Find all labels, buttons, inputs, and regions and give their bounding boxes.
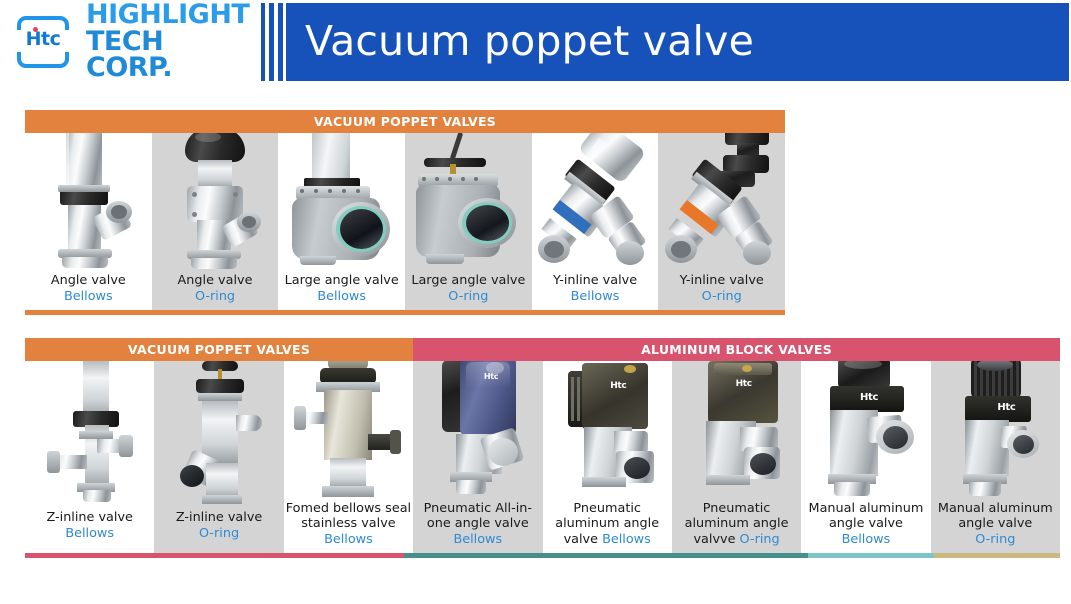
valve-caption-seal: Bellows <box>317 289 366 304</box>
valve-caption: Large angle valveBellows <box>278 269 405 310</box>
valve-photo-y-inline-oring <box>663 133 781 269</box>
valve-caption: Large angle valveO-ring <box>405 269 532 310</box>
valve-cell-z-inline-bellows[interactable]: Z-inline valveBellows <box>25 361 154 553</box>
valve-caption-title: Y-inline valve <box>553 273 637 288</box>
valve-caption-seal: O-ring <box>448 289 488 304</box>
valve-photo-z-inline-bellows <box>43 361 137 506</box>
valve-caption-title: Manual aluminum angle valve <box>938 501 1053 532</box>
valve-cell-y-inline-oring[interactable]: Y-inline valveO-ring <box>658 133 785 310</box>
valve-caption: Angle valveO-ring <box>152 269 279 310</box>
logo-htc-text: Htc <box>17 28 69 50</box>
valve-photo-manual-alum-bellows: Htc <box>812 361 920 497</box>
valve-photo-manual-alum-oring: Htc <box>943 361 1047 497</box>
valve-caption: Z-inline valveO-ring <box>154 506 283 547</box>
valve-photo-pneu-alum-bellows: Htc <box>554 361 660 497</box>
valve-photo-y-inline-bellows <box>536 133 654 269</box>
valve-caption: Pneumatic All-in-one angle valveBellows <box>413 497 542 554</box>
valve-caption: Angle valveBellows <box>25 269 152 310</box>
valve-cell-z-inline-oring[interactable]: Z-inline valveO-ring <box>154 361 283 553</box>
valve-photo-pneu-alum-oring: Htc <box>684 361 790 497</box>
table1-footbar <box>25 310 785 315</box>
valve-image-large-angle-oring <box>405 133 532 269</box>
valve-image-manual-alum-bellows: Htc <box>801 361 930 497</box>
title-rule-2 <box>274 3 278 81</box>
footbar-seg-1 <box>25 310 785 315</box>
valve-caption-seal: O-ring <box>975 532 1015 547</box>
footbar-seg-3 <box>808 553 934 558</box>
valve-caption: Manual aluminum angle valveO-ring <box>931 497 1060 554</box>
valve-caption-seal: Bellows <box>602 532 651 547</box>
valve-image-large-angle-bellows <box>278 133 405 269</box>
valve-cell-pneu-alum-bellows[interactable]: HtcPneumatic aluminum angle valve Bellow… <box>543 361 672 553</box>
valve-image-z-inline-bellows <box>25 361 154 506</box>
valve-image-angle-bellows <box>25 133 152 269</box>
valve-image-y-inline-bellows <box>532 133 659 269</box>
footbar-seg-2 <box>404 553 808 558</box>
valve-caption-seal: Bellows <box>64 289 113 304</box>
valve-caption: Pneumatic aluminum angle valvve O-ring <box>672 497 801 554</box>
valve-image-y-inline-oring <box>658 133 785 269</box>
valve-caption-seal: O-ring <box>199 526 239 541</box>
table1-columns: Angle valveBellowsAngle valveO-ringLarge… <box>25 133 785 310</box>
valve-caption-title: Angle valve <box>51 273 126 288</box>
valve-image-pneu-alum-oring: Htc <box>672 361 801 497</box>
valve-caption-title: Fomed bellows seal stainless valve <box>286 501 411 532</box>
valve-photo-z-inline-oring <box>172 361 266 506</box>
valve-cell-formed-bellows[interactable]: Fomed bellows seal stainless valveBellow… <box>284 361 413 553</box>
valve-cell-angle-bellows[interactable]: Angle valveBellows <box>25 133 152 310</box>
valve-caption-title: Manual aluminum angle valve <box>809 501 924 532</box>
valve-caption-title: Z-inline valve <box>176 510 262 525</box>
valve-cell-y-inline-bellows[interactable]: Y-inline valveBellows <box>532 133 659 310</box>
valve-caption-title: Y-inline valve <box>680 273 764 288</box>
title-rule-1 <box>265 3 269 81</box>
valve-caption-seal: Bellows <box>453 532 502 547</box>
footbar-seg-1 <box>25 553 404 558</box>
valve-caption-seal: Bellows <box>324 532 373 547</box>
valve-cell-pneu-alum-oring[interactable]: HtcPneumatic aluminum angle valvve O-rin… <box>672 361 801 553</box>
valve-caption-title: Z-inline valve <box>46 510 132 525</box>
valve-caption-seal: Bellows <box>842 532 891 547</box>
valve-caption: Y-inline valveO-ring <box>658 269 785 310</box>
valve-image-manual-alum-oring: Htc <box>931 361 1060 497</box>
valve-cell-manual-alum-bellows[interactable]: HtcManual aluminum angle valveBellows <box>801 361 930 553</box>
valve-table-2: VACUUM POPPET VALVESALUMINUM BLOCK VALVE… <box>25 338 1060 558</box>
valve-caption: Z-inline valveBellows <box>25 506 154 547</box>
company-name: HIGHLIGHT TECH CORP. <box>86 2 256 81</box>
valve-caption: Manual aluminum angle valveBellows <box>801 497 930 554</box>
table2-band-row: VACUUM POPPET VALVESALUMINUM BLOCK VALVE… <box>25 338 1060 361</box>
page-header: Htc HIGHLIGHT TECH CORP. Vacuum poppet v… <box>0 0 1071 84</box>
valve-image-angle-oring <box>152 133 279 269</box>
footbar-seg-4 <box>934 553 1060 558</box>
valve-caption-seal: Bellows <box>65 526 114 541</box>
title-rule-3 <box>283 3 286 81</box>
valve-caption-seal: O-ring <box>740 532 780 547</box>
valve-caption-title: Large angle valve <box>411 273 525 288</box>
valve-cell-large-angle-bellows[interactable]: Large angle valveBellows <box>278 133 405 310</box>
company-name-line1: HIGHLIGHT <box>86 2 256 28</box>
table-band-1: VACUUM POPPET VALVES <box>25 338 413 361</box>
company-logo: Htc HIGHLIGHT TECH CORP. <box>8 8 256 76</box>
logo-red-dot-icon <box>33 27 38 32</box>
valve-caption-seal: Bellows <box>571 289 620 304</box>
valve-photo-pneu-allinone: Htc <box>426 361 530 497</box>
valve-cell-manual-alum-oring[interactable]: HtcManual aluminum angle valveO-ring <box>931 361 1060 553</box>
table2-footbar <box>25 553 1060 558</box>
valve-photo-formed-bellows <box>294 361 402 497</box>
htc-logo-mark: Htc <box>14 14 76 70</box>
valve-image-pneu-allinone: Htc <box>413 361 542 497</box>
valve-photo-large-angle-bellows <box>278 133 405 269</box>
valve-caption-title: Pneumatic All-in-one angle valve <box>424 501 532 532</box>
valve-caption: Y-inline valveBellows <box>532 269 659 310</box>
valve-caption-seal: O-ring <box>195 289 235 304</box>
company-name-line2: TECH CORP. <box>86 29 256 82</box>
table2-columns: Z-inline valveBellowsZ-inline valveO-rin… <box>25 361 1060 553</box>
valve-cell-pneu-allinone[interactable]: HtcPneumatic All-in-one angle valveBello… <box>413 361 542 553</box>
valve-caption-seal: O-ring <box>702 289 742 304</box>
table1-band-row: VACUUM POPPET VALVES <box>25 110 785 133</box>
valve-cell-angle-oring[interactable]: Angle valveO-ring <box>152 133 279 310</box>
valve-photo-angle-oring <box>165 133 265 269</box>
valve-cell-large-angle-oring[interactable]: Large angle valveO-ring <box>405 133 532 310</box>
valve-photo-large-angle-oring <box>405 133 532 269</box>
valve-caption: Pneumatic aluminum angle valve Bellows <box>543 497 672 554</box>
valve-table-1: VACUUM POPPET VALVES Angle valveBellowsA… <box>25 110 785 315</box>
title-bar: Vacuum poppet valve <box>261 3 1069 81</box>
valve-photo-angle-bellows <box>40 133 136 269</box>
valve-image-z-inline-oring <box>154 361 283 506</box>
valve-image-pneu-alum-bellows: Htc <box>543 361 672 497</box>
table-band-2: ALUMINUM BLOCK VALVES <box>413 338 1060 361</box>
valve-caption: Fomed bellows seal stainless valveBellow… <box>284 497 413 554</box>
valve-image-formed-bellows <box>284 361 413 497</box>
table-band-1: VACUUM POPPET VALVES <box>25 110 785 133</box>
valve-caption-title: Large angle valve <box>285 273 399 288</box>
page-title: Vacuum poppet valve <box>305 17 754 65</box>
valve-caption-title: Angle valve <box>178 273 253 288</box>
